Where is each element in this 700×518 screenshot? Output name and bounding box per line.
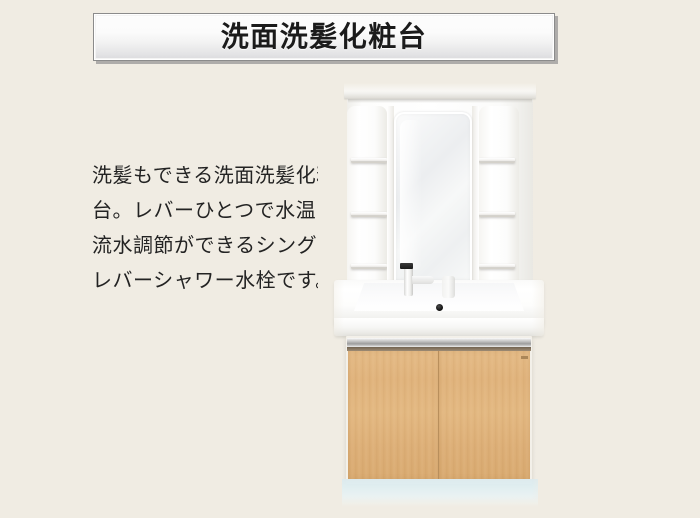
shelf-plate [479, 212, 515, 217]
cabinet-door-latch [521, 356, 528, 359]
faucet-spout [412, 276, 434, 284]
basin-front-apron [334, 318, 544, 336]
photo-edge-top [318, 80, 558, 94]
title-banner: 洗面洗髪化粧台 [93, 13, 555, 61]
shelf-plate [351, 158, 387, 163]
shelf-plate [351, 264, 387, 269]
cabinet-door-left [348, 351, 439, 479]
shelf-plate [351, 212, 387, 217]
mirror-pane [394, 112, 472, 282]
cabinet-handle-rail [347, 338, 531, 347]
floor-fade [332, 498, 548, 518]
shelf-plate [479, 264, 515, 269]
page-root: 洗面洗髪化粧台 洗髪もできる洗面洗髪化粧台。レバーひとつで水温・流水調節ができる… [0, 0, 700, 513]
mirror-frame-right [472, 106, 479, 288]
photo-edge-left [318, 80, 344, 500]
page-title: 洗面洗髪化粧台 [221, 23, 428, 51]
mirror-gloss [400, 120, 422, 270]
cabinet-door-right [439, 351, 530, 479]
mirror-frame-left [387, 106, 394, 288]
shelf-plate [479, 158, 515, 163]
description-text: 洗髪もできる洗面洗髪化粧台。レバーひとつで水温・流水調節ができるシングルレバーシ… [92, 158, 342, 298]
product-photo [318, 80, 558, 500]
basin-drain [436, 304, 443, 311]
side-shelf-left [347, 106, 387, 288]
mirror-hood-shadow [348, 99, 532, 103]
photo-edge-right [532, 80, 558, 500]
side-shelf-right [479, 106, 519, 288]
shower-head [442, 276, 455, 298]
faucet-lever-handle [400, 263, 413, 269]
